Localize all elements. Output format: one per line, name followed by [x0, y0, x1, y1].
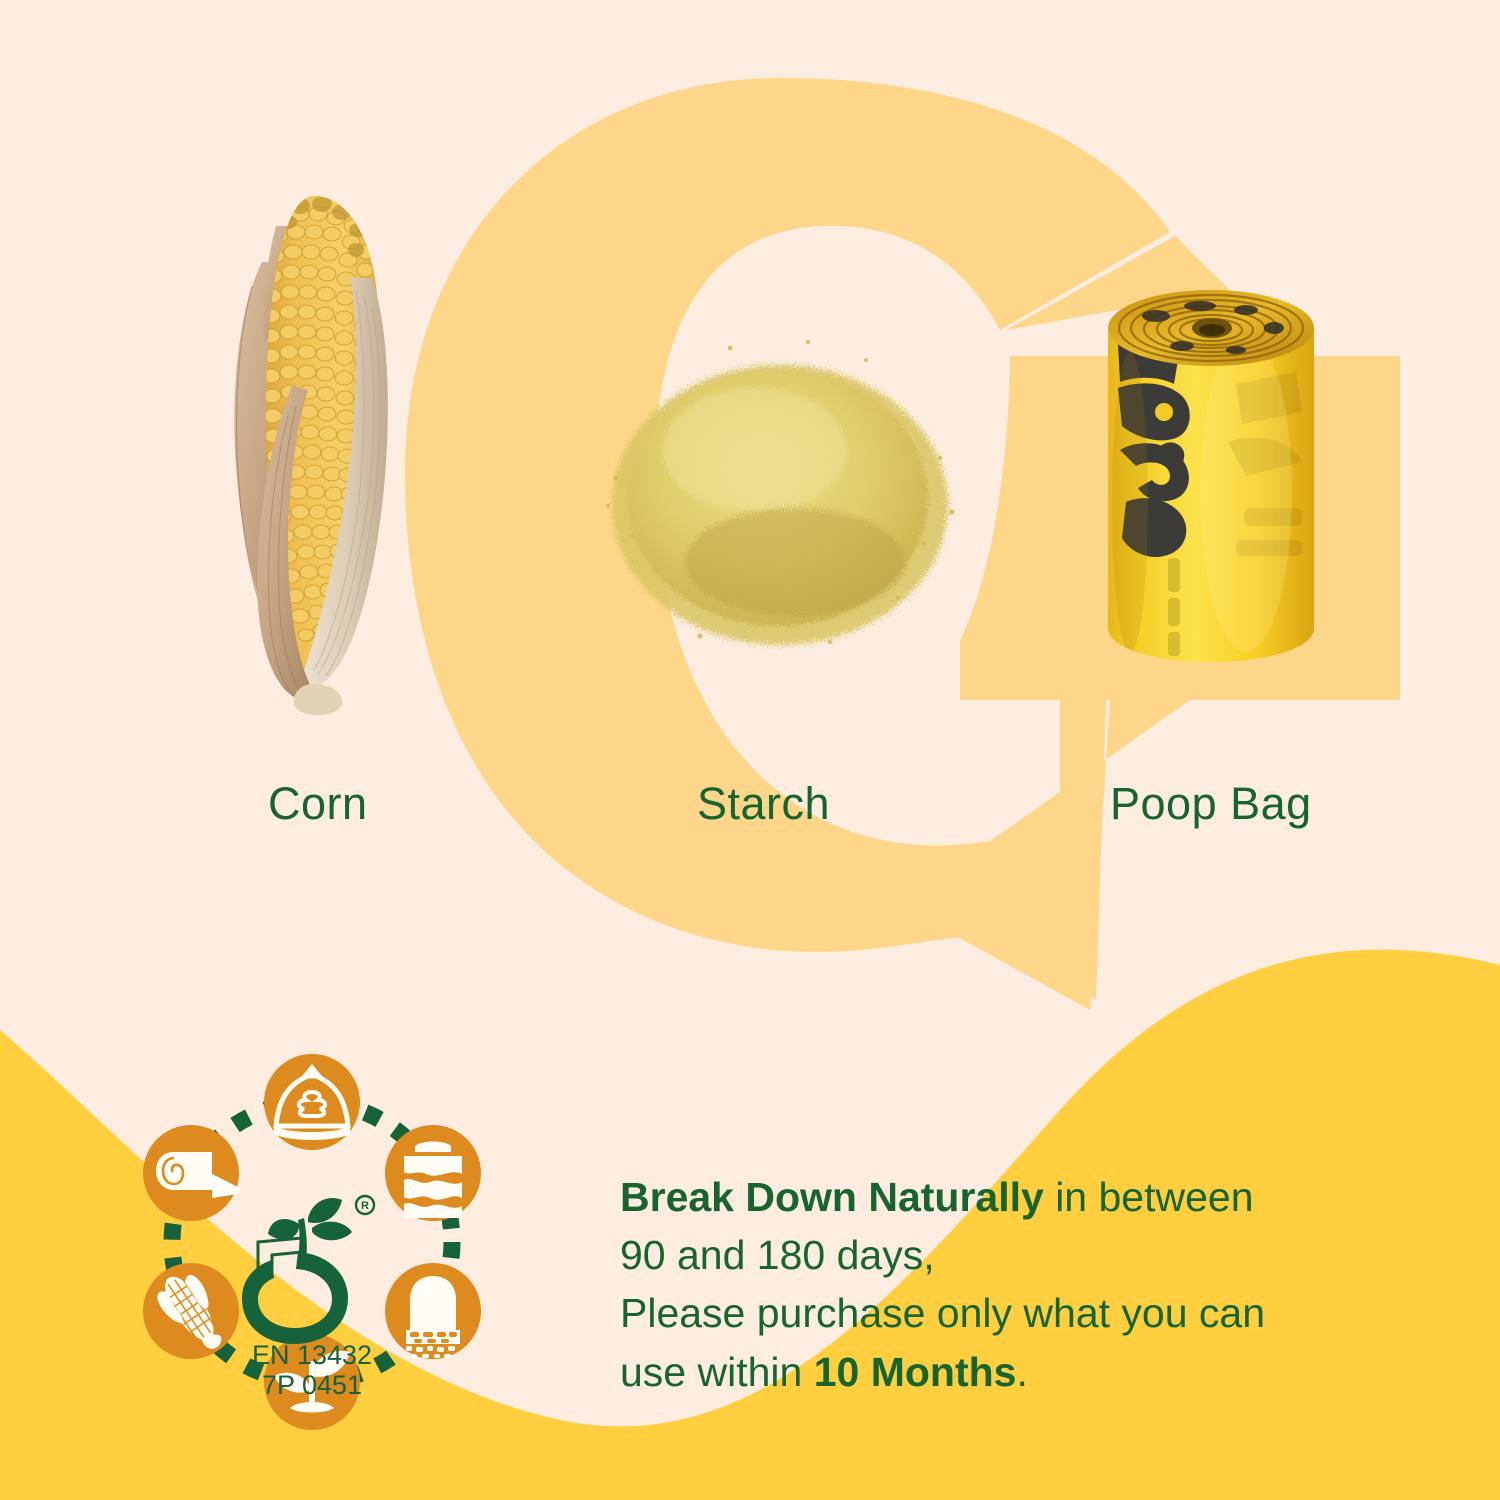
yellow-poop-bag-roll-photo	[1096, 272, 1326, 672]
seedling-logo: R	[242, 1196, 374, 1344]
bag-roll-icon	[143, 1125, 240, 1221]
bag-decomposing-in-soil-icon	[385, 1263, 481, 1359]
step-label-corn: Corn	[268, 778, 368, 830]
cert-standard-text: EN 13432	[252, 1340, 372, 1370]
corn-cob-photo	[196, 166, 446, 736]
infographic-canvas: Corn Starch Poop Bag	[0, 0, 1500, 1500]
copy-line4-suffix: .	[1016, 1349, 1027, 1395]
step-label-starch: Starch	[697, 778, 830, 830]
cert-license-text: 7P 0451	[262, 1370, 362, 1400]
copy-line3: Please purchase only what you can	[620, 1284, 1420, 1342]
copy-line1-bold: Break Down Naturally	[620, 1174, 1044, 1220]
poop-bag-filled-icon	[264, 1054, 360, 1150]
soil-layers-icon	[385, 1125, 481, 1221]
copy-line1-rest: in between	[1044, 1174, 1254, 1220]
copy-line2: 90 and 180 days,	[620, 1226, 1420, 1284]
copy-line4-prefix: use within	[620, 1349, 814, 1395]
step-label-poop-bag: Poop Bag	[1110, 778, 1312, 830]
corn-starch-powder-photo	[580, 330, 980, 660]
registered-mark: R	[361, 1200, 369, 1212]
breakdown-copy: Break Down Naturally in between 90 and 1…	[620, 1168, 1420, 1401]
compostable-certification-badge: R EN 13432 7P 0451	[112, 1042, 512, 1442]
copy-line4-bold: 10 Months	[814, 1349, 1017, 1395]
